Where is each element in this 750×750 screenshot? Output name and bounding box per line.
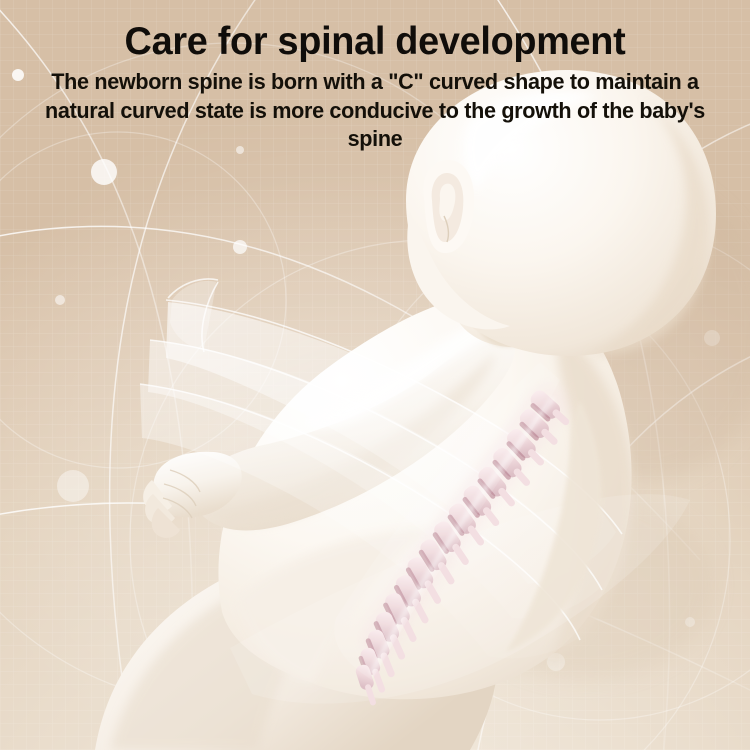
page-subtitle: The newborn spine is born with a "C" cur… — [28, 68, 721, 154]
poster-canvas: Care for spinal development The newborn … — [0, 0, 750, 750]
page-title: Care for spinal development — [11, 20, 739, 64]
